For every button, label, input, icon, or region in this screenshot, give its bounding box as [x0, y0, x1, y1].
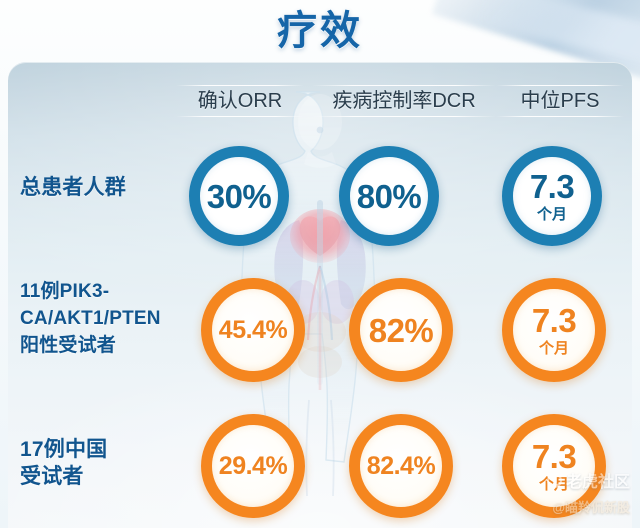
- row-label-chinese-subjects: 17例中国 受试者: [20, 436, 185, 490]
- infographic-root: 疗效: [0, 0, 640, 528]
- row-label-line: 17例中国: [20, 436, 185, 463]
- metric-unit-pfs-biomarker: 个月: [539, 341, 569, 356]
- page-title: 疗效: [0, 7, 640, 55]
- row-label-line: CA/AKT1/PTEN: [20, 305, 185, 332]
- metric-unit-pfs-overall: 个月: [537, 207, 567, 222]
- metric-value-dcr-chinese: 82.4%: [367, 454, 435, 479]
- column-headers: 确认ORR 疾病控制率DCR 中位PFS: [8, 84, 632, 128]
- metric-value-pfs-biomarker: 7.3: [532, 304, 576, 337]
- metric-value-orr-chinese: 29.4%: [219, 454, 287, 479]
- metric-bubble-orr-chinese: 29.4%: [201, 414, 305, 518]
- metric-bubble-orr-overall: 30%: [189, 146, 289, 246]
- data-row-overall: 总患者人群 30% 80% 7.3 个月: [8, 140, 632, 260]
- data-row-biomarker-positive: 11例PIK3- CA/AKT1/PTEN 阳性受试者 45.4% 82% 7.…: [8, 264, 632, 396]
- column-header-dcr: 疾病控制率DCR: [304, 84, 504, 118]
- column-header-pfs: 中位PFS: [490, 84, 630, 118]
- row-label-line: 阳性受试者: [20, 332, 185, 359]
- column-header-orr: 确认ORR: [170, 84, 310, 118]
- efficacy-panel: 确认ORR 疾病控制率DCR 中位PFS 总患者人群 30% 80% 7.3 个…: [8, 62, 632, 528]
- data-row-chinese-subjects: 17例中国 受试者 29.4% 82.4% 7.3 个月: [8, 406, 632, 528]
- metric-value-dcr-overall: 80%: [357, 180, 422, 213]
- metric-bubble-pfs-overall: 7.3 个月: [502, 146, 602, 246]
- row-label-biomarker-positive: 11例PIK3- CA/AKT1/PTEN 阳性受试者: [20, 278, 185, 359]
- metric-value-dcr-biomarker: 82%: [369, 314, 434, 347]
- metric-value-orr-biomarker: 45.4%: [219, 318, 287, 343]
- metric-bubble-dcr-chinese: 82.4%: [349, 414, 453, 518]
- row-label-overall: 总患者人群: [20, 174, 185, 201]
- metric-bubble-dcr-biomarker: 82%: [349, 278, 453, 382]
- row-label-line: 受试者: [20, 463, 185, 490]
- metric-value-pfs-chinese: 7.3: [532, 440, 576, 473]
- metric-value-pfs-overall: 7.3: [530, 170, 574, 203]
- row-label-line: 总患者人群: [20, 174, 185, 201]
- metric-unit-pfs-chinese: 个月: [539, 477, 569, 492]
- metric-bubble-pfs-biomarker: 7.3 个月: [502, 278, 606, 382]
- metric-bubble-orr-biomarker: 45.4%: [201, 278, 305, 382]
- metric-bubble-dcr-overall: 80%: [339, 146, 439, 246]
- row-label-line: 11例PIK3-: [20, 278, 185, 305]
- metric-bubble-pfs-chinese: 7.3 个月: [502, 414, 606, 518]
- metric-value-orr-overall: 30%: [207, 180, 272, 213]
